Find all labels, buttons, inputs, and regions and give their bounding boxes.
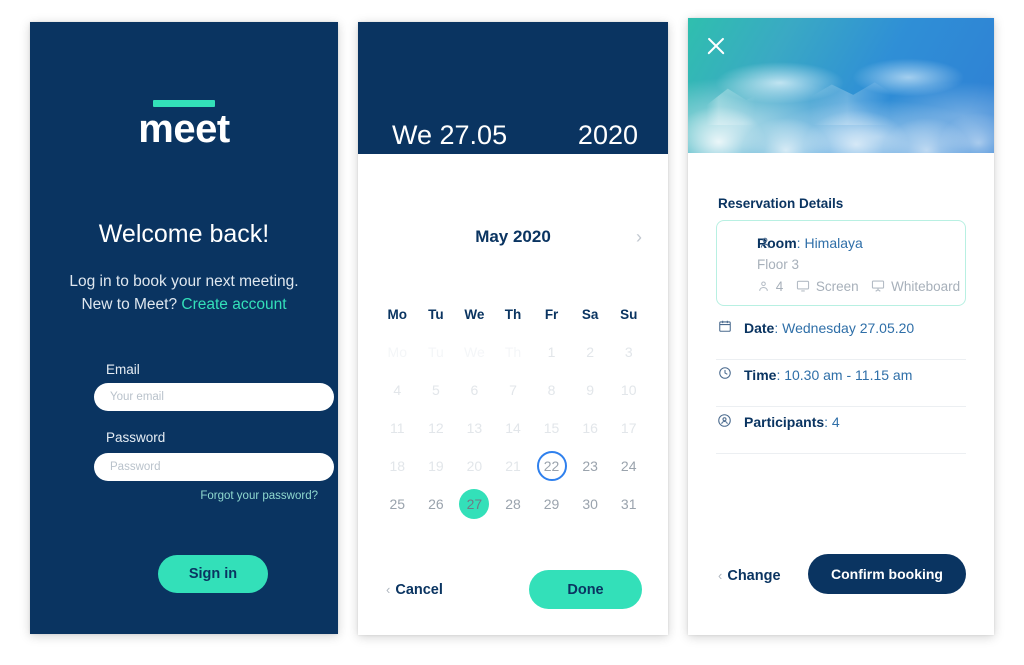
date-text: Date: Wednesday 27.05.20: [744, 320, 914, 336]
calendar-day-placeholder: Mo: [378, 336, 417, 368]
calendar-weekday-header: We: [455, 298, 494, 330]
calendar-day-today[interactable]: 22: [532, 450, 571, 482]
calendar-day[interactable]: 31: [609, 488, 648, 520]
calendar-panel: We 27.05 2020 May 2020 › MoTuWeThFrSaSuM…: [358, 22, 668, 635]
room-line: Room: Himalaya: [757, 235, 863, 251]
calendar-day: 18: [378, 450, 417, 482]
confirm-booking-button[interactable]: Confirm booking: [808, 554, 966, 594]
calendar-day-number: We: [464, 344, 485, 360]
clock-icon: [716, 366, 733, 383]
cloud-decoration: [688, 97, 994, 153]
welcome-heading: Welcome back!: [30, 220, 338, 249]
calendar-day-number: 24: [621, 458, 637, 474]
calendar-day: 19: [417, 450, 456, 482]
calendar-day: 20: [455, 450, 494, 482]
calendar-day: 1: [532, 336, 571, 368]
calendar-day-number: 12: [428, 420, 444, 436]
subtitle-line-2: New to Meet? Create account: [54, 293, 314, 316]
calendar-day: 5: [417, 374, 456, 406]
calendar-day-number: 3: [625, 344, 633, 360]
people-icon: [757, 279, 774, 294]
participants-text: Participants: 4: [744, 414, 840, 430]
calendar-day: 15: [532, 412, 571, 444]
calendar-day-number: 17: [621, 420, 637, 436]
participants-row[interactable]: Participants: 4: [716, 408, 966, 454]
cancel-button[interactable]: ‹Cancel: [386, 582, 443, 598]
calendar-day: 9: [571, 374, 610, 406]
calendar-day: 21: [494, 450, 533, 482]
calendar-day-number: 26: [428, 496, 444, 512]
login-panel: meet Welcome back! Log in to book your n…: [30, 22, 338, 634]
password-label: Password: [106, 430, 165, 445]
calendar-day-number: 4: [393, 382, 401, 398]
calendar-month-label: May 2020: [358, 227, 668, 247]
chevron-right-icon[interactable]: ›: [636, 224, 642, 250]
sign-in-button[interactable]: Sign in: [158, 555, 268, 593]
login-subtitle: Log in to book your next meeting. New to…: [54, 270, 314, 316]
calendar-day-number: 20: [467, 458, 483, 474]
calendar-grid: MoTuWeThFrSaSuMoTuWeTh123456789101112131…: [378, 298, 648, 520]
calendar-day: 2: [571, 336, 610, 368]
calendar-day: 11: [378, 412, 417, 444]
calendar-day-number: 31: [621, 496, 637, 512]
calendar-day: 3: [609, 336, 648, 368]
screenshot-stage: meet Welcome back! Log in to book your n…: [0, 0, 1024, 665]
calendar-day-number: 23: [582, 458, 598, 474]
calendar-day: 8: [532, 374, 571, 406]
email-label: Email: [106, 362, 140, 377]
time-value: 10.30 am - 11.15 am: [784, 367, 912, 383]
details-footer: ‹Change Confirm booking: [688, 554, 994, 614]
email-input[interactable]: [94, 383, 334, 411]
calendar-day-number: 7: [509, 382, 517, 398]
calendar-day-placeholder: We: [455, 336, 494, 368]
screen-icon: [792, 279, 814, 294]
calendar-month-row: May 2020 ›: [358, 227, 668, 253]
calendar-day-number: Mo: [388, 344, 407, 360]
done-button[interactable]: Done: [529, 570, 642, 609]
calendar-day-number: 2: [586, 344, 594, 360]
calendar-weekday-header: Mo: [378, 298, 417, 330]
person-pin-icon: [757, 236, 773, 252]
date-label: Date: [744, 320, 774, 336]
time-label: Time: [744, 367, 776, 383]
calendar-day[interactable]: 26: [417, 488, 456, 520]
calendar-header-date: We 27.05: [392, 120, 507, 151]
calendar-day-placeholder: Tu: [417, 336, 456, 368]
calendar-weekday-header: Th: [494, 298, 533, 330]
whiteboard-icon: [868, 279, 890, 294]
calendar-day[interactable]: 30: [571, 488, 610, 520]
meet-logo: meet: [30, 100, 338, 149]
calendar-day-number: 6: [471, 382, 479, 398]
room-card[interactable]: Room: Himalaya Floor 3 4 Screen Whiteboa…: [716, 220, 966, 306]
calendar-day: 16: [571, 412, 610, 444]
close-icon[interactable]: [702, 32, 730, 60]
chevron-left-icon: ‹: [386, 582, 390, 597]
calendar-day-number: 30: [582, 496, 598, 512]
forgot-password-link[interactable]: Forgot your password?: [200, 490, 318, 502]
calendar-day-number: 9: [586, 382, 594, 398]
time-text: Time: 10.30 am - 11.15 am: [744, 367, 912, 383]
calendar-day-number: 16: [582, 420, 598, 436]
calendar-day-number: 22: [537, 451, 567, 481]
participants-icon: [716, 413, 733, 430]
subtitle-line-1: Log in to book your next meeting.: [54, 270, 314, 293]
calendar-day-number: 21: [505, 458, 521, 474]
change-label: Change: [727, 568, 780, 584]
calendar-day: 7: [494, 374, 533, 406]
calendar-weekday-header: Sa: [571, 298, 610, 330]
room-floor: Floor 3: [757, 257, 799, 272]
logo-bar-icon: [153, 100, 215, 107]
calendar-weekday-header: Fr: [532, 298, 571, 330]
room-value: Himalaya: [804, 235, 862, 251]
cancel-label: Cancel: [395, 582, 443, 598]
password-input[interactable]: [94, 453, 334, 481]
calendar-footer: ‹Cancel Done: [358, 570, 668, 626]
calendar-weekday-header: Tu: [417, 298, 456, 330]
calendar-header: We 27.05 2020: [358, 22, 668, 154]
calendar-day-number: 8: [548, 382, 556, 398]
calendar-day-number: 5: [432, 382, 440, 398]
calendar-day-placeholder: Th: [494, 336, 533, 368]
chevron-left-icon: ‹: [718, 568, 722, 583]
room-hero-image: [688, 18, 994, 153]
calendar-day-number: 27: [459, 489, 489, 519]
calendar-day-number: 10: [621, 382, 637, 398]
calendar-day-number: Th: [505, 344, 521, 360]
calendar-weekday-header: Su: [609, 298, 648, 330]
create-account-link[interactable]: Create account: [181, 296, 286, 313]
calendar-day-number: 11: [390, 420, 405, 436]
calendar-day-number: 15: [544, 420, 560, 436]
calendar-day: 13: [455, 412, 494, 444]
calendar-day: 17: [609, 412, 648, 444]
calendar-day-number: 19: [428, 458, 444, 474]
calendar-day-number: Tu: [428, 344, 444, 360]
calendar-day-number: 13: [467, 420, 483, 436]
calendar-day: 10: [609, 374, 648, 406]
date-row[interactable]: Date: Wednesday 27.05.20: [716, 314, 966, 360]
calendar-day: 12: [417, 412, 456, 444]
calendar-day-number: 28: [505, 496, 521, 512]
calendar-header-year: 2020: [578, 120, 638, 151]
logo-text: meet: [30, 109, 338, 149]
feature-screen-label: Screen: [816, 279, 859, 294]
room-features: 4 Screen Whiteboard: [757, 279, 960, 294]
calendar-day[interactable]: 25: [378, 488, 417, 520]
calendar-day-number: 29: [544, 496, 560, 512]
details-title: Reservation Details: [718, 196, 843, 211]
change-button[interactable]: ‹Change: [718, 568, 781, 584]
calendar-day[interactable]: 29: [532, 488, 571, 520]
calendar-icon: [716, 319, 733, 336]
calendar-day-number: 1: [548, 344, 556, 360]
calendar-day: 4: [378, 374, 417, 406]
calendar-day[interactable]: 24: [609, 450, 648, 482]
calendar-day: 14: [494, 412, 533, 444]
calendar-day-number: 14: [505, 420, 521, 436]
calendar-day-number: 18: [389, 458, 405, 474]
calendar-day[interactable]: 28: [494, 488, 533, 520]
subtitle-prefix: New to Meet?: [81, 296, 181, 313]
participants-value: 4: [832, 414, 840, 430]
calendar-day[interactable]: 23: [571, 450, 610, 482]
participants-label: Participants: [744, 414, 824, 430]
room-capacity: 4: [776, 279, 784, 294]
calendar-day-number: 25: [389, 496, 405, 512]
time-row[interactable]: Time: 10.30 am - 11.15 am: [716, 361, 966, 407]
calendar-day: 6: [455, 374, 494, 406]
reservation-details-panel: Reservation Details Room: Himalaya Floor…: [688, 18, 994, 635]
calendar-day-selected[interactable]: 27: [455, 488, 494, 520]
feature-whiteboard-label: Whiteboard: [891, 279, 960, 294]
date-value: Wednesday 27.05.20: [782, 320, 914, 336]
